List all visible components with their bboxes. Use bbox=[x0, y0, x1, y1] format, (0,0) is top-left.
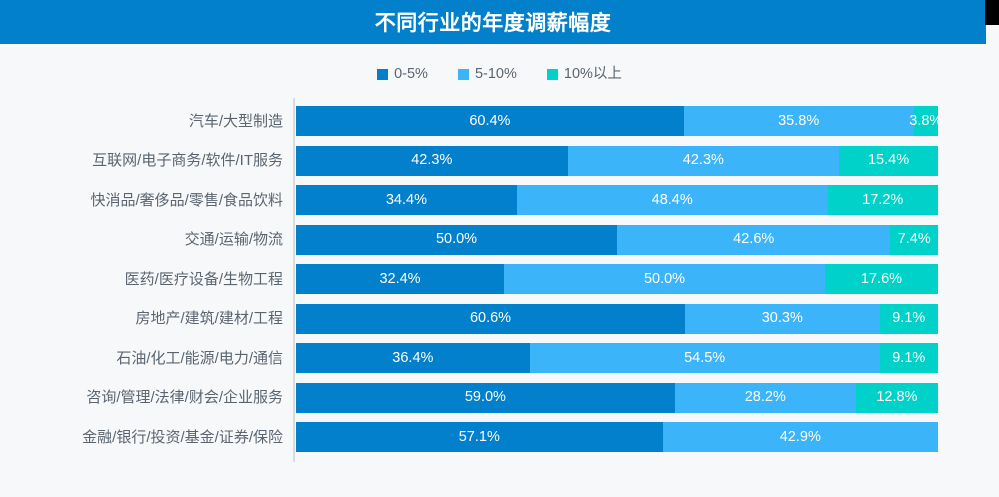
stacked-bar: 60.6%30.3%9.1% bbox=[296, 304, 938, 334]
bar-segment-0-5[interactable]: 42.3% bbox=[296, 146, 568, 176]
category-label: 金融/银行/投资/基金/证券/保险 bbox=[3, 430, 283, 445]
stacked-bar: 36.4%54.5%9.1% bbox=[296, 343, 938, 373]
bar-row: 石油/化工/能源/电力/通信36.4%54.5%9.1% bbox=[0, 343, 999, 373]
category-label: 交通/运输/物流 bbox=[3, 232, 283, 247]
legend-label-0-5: 0-5% bbox=[394, 67, 428, 82]
header-corner-notch bbox=[985, 0, 999, 25]
chart-legend: 0-5% 5-10% 10%以上 bbox=[0, 62, 999, 86]
bar-segment-5-10[interactable]: 30.3% bbox=[685, 304, 880, 334]
stacked-bar: 34.4%48.4%17.2% bbox=[296, 185, 938, 215]
bar-row: 医药/医疗设备/生物工程32.4%50.0%17.6% bbox=[0, 264, 999, 294]
bar-segment-5-10[interactable]: 35.8% bbox=[684, 106, 914, 136]
bar-row: 互联网/电子商务/软件/IT服务42.3%42.3%15.4% bbox=[0, 146, 999, 176]
legend-item-5-10[interactable]: 5-10% bbox=[458, 67, 517, 82]
bar-segment-10[interactable]: 9.1% bbox=[880, 343, 938, 373]
bar-segment-0-5[interactable]: 32.4% bbox=[296, 264, 504, 294]
bar-segment-0-5[interactable]: 50.0% bbox=[296, 225, 617, 255]
category-label: 互联网/电子商务/软件/IT服务 bbox=[3, 153, 283, 168]
bar-row: 交通/运输/物流50.0%42.6%7.4% bbox=[0, 225, 999, 255]
header-bar: 不同行业的年度调薪幅度 bbox=[0, 0, 986, 44]
bar-segment-0-5[interactable]: 34.4% bbox=[296, 185, 517, 215]
stacked-bar: 32.4%50.0%17.6% bbox=[296, 264, 938, 294]
bar-row: 咨询/管理/法律/财会/企业服务59.0%28.2%12.8% bbox=[0, 383, 999, 413]
bar-segment-5-10[interactable]: 42.3% bbox=[568, 146, 840, 176]
bar-row: 房地产/建筑/建材/工程60.6%30.3%9.1% bbox=[0, 304, 999, 334]
bar-segment-5-10[interactable]: 48.4% bbox=[517, 185, 828, 215]
bar-row: 汽车/大型制造60.4%35.8%3.8% bbox=[0, 106, 999, 136]
bar-segment-0-5[interactable]: 36.4% bbox=[296, 343, 530, 373]
bar-segment-0-5[interactable]: 57.1% bbox=[296, 422, 663, 452]
page-title: 不同行业的年度调薪幅度 bbox=[0, 0, 986, 44]
category-label: 咨询/管理/法律/财会/企业服务 bbox=[3, 390, 283, 405]
category-label: 医药/医疗设备/生物工程 bbox=[3, 272, 283, 287]
bar-segment-10[interactable]: 9.1% bbox=[880, 304, 938, 334]
legend-item-0-5[interactable]: 0-5% bbox=[377, 67, 428, 82]
bar-segment-0-5[interactable]: 60.6% bbox=[296, 304, 685, 334]
legend-swatch-icon-10-plus bbox=[547, 69, 558, 80]
bar-segment-0-5[interactable]: 60.4% bbox=[296, 106, 684, 136]
bar-segment-10[interactable]: 15.4% bbox=[839, 146, 938, 176]
legend-swatch-icon-5-10 bbox=[458, 69, 469, 80]
legend-item-10-plus[interactable]: 10%以上 bbox=[547, 67, 622, 82]
category-label: 汽车/大型制造 bbox=[3, 114, 283, 129]
bar-segment-0-5[interactable]: 59.0% bbox=[296, 383, 675, 413]
bar-row: 快消品/奢侈品/零售/食品饮料34.4%48.4%17.2% bbox=[0, 185, 999, 215]
bar-segment-5-10[interactable]: 50.0% bbox=[504, 264, 825, 294]
bar-segment-10[interactable]: 7.4% bbox=[890, 225, 938, 255]
bar-segment-5-10[interactable]: 42.9% bbox=[663, 422, 938, 452]
bar-segment-10[interactable]: 17.2% bbox=[828, 185, 938, 215]
category-label: 房地产/建筑/建材/工程 bbox=[3, 311, 283, 326]
legend-label-5-10: 5-10% bbox=[475, 67, 517, 82]
bar-segment-5-10[interactable]: 42.6% bbox=[617, 225, 890, 255]
bar-segment-10[interactable]: 12.8% bbox=[856, 383, 938, 413]
category-label: 快消品/奢侈品/零售/食品饮料 bbox=[3, 193, 283, 208]
stacked-bar: 42.3%42.3%15.4% bbox=[296, 146, 938, 176]
category-label: 石油/化工/能源/电力/通信 bbox=[3, 351, 283, 366]
bar-segment-5-10[interactable]: 54.5% bbox=[530, 343, 880, 373]
stacked-bar: 59.0%28.2%12.8% bbox=[296, 383, 938, 413]
bar-segment-5-10[interactable]: 28.2% bbox=[675, 383, 856, 413]
legend-label-10-plus: 10%以上 bbox=[564, 67, 622, 82]
bar-segment-10[interactable]: 3.8% bbox=[914, 106, 938, 136]
bar-row: 金融/银行/投资/基金/证券/保险57.1%42.9% bbox=[0, 422, 999, 452]
stacked-bar: 57.1%42.9% bbox=[296, 422, 938, 452]
stacked-bar: 50.0%42.6%7.4% bbox=[296, 225, 938, 255]
chart-plot-area: 汽车/大型制造60.4%35.8%3.8%互联网/电子商务/软件/IT服务42.… bbox=[0, 98, 999, 472]
bar-segment-10[interactable]: 17.6% bbox=[825, 264, 938, 294]
legend-swatch-icon-0-5 bbox=[377, 69, 388, 80]
stacked-bar: 60.4%35.8%3.8% bbox=[296, 106, 938, 136]
